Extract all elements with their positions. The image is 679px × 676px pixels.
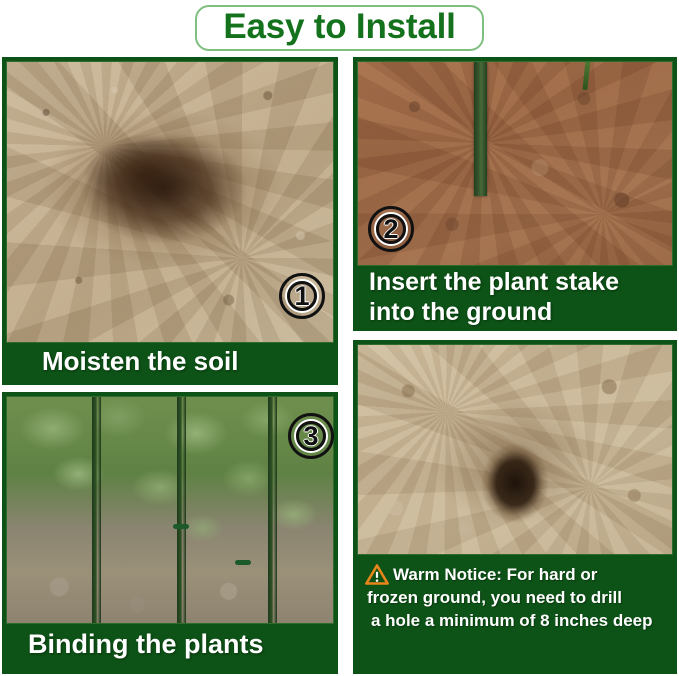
step-number-2: 2	[383, 216, 398, 243]
title-banner: Easy to Install	[0, 0, 679, 55]
step-badge-3: 3	[288, 413, 334, 459]
plant-stake-object	[474, 62, 487, 196]
drilled-hole-photo-frame	[357, 344, 673, 555]
step-3-caption: Binding the plants	[2, 622, 338, 670]
binding-plants-photo	[7, 397, 333, 623]
plant-stake-object	[92, 397, 101, 623]
infographic-root: Easy to Install Moisten the soil Insert …	[0, 0, 679, 676]
plant-stake-object	[268, 397, 277, 623]
notice-line-3: a hole a minimum of 8 inches deep	[363, 609, 669, 632]
step-number-3: 3	[303, 423, 318, 450]
grass-sprig-object	[583, 61, 591, 90]
notice-line-1: Warm Notice: For hard or	[363, 563, 669, 586]
title-box: Easy to Install	[195, 5, 483, 51]
plant-tie-object	[235, 560, 251, 565]
drilled-hole-photo	[358, 345, 672, 554]
warm-notice-text: Warm Notice: For hard or frozen ground, …	[357, 559, 673, 670]
step-1-caption: Moisten the soil	[2, 341, 338, 383]
step-panel-1: Moisten the soil	[2, 57, 338, 385]
plant-stake-object	[177, 397, 186, 623]
warning-triangle-icon	[365, 564, 389, 585]
step-2-caption-line-1: Insert the plant stake	[369, 267, 677, 297]
step-number-1: 1	[294, 283, 309, 310]
notice-panel: Warm Notice: For hard or frozen ground, …	[353, 340, 677, 674]
step-2-caption-line-2: into the ground	[369, 297, 677, 327]
step-badge-1: 1	[279, 273, 325, 319]
step-2-caption: Insert the plant stake into the ground	[353, 267, 677, 329]
plant-tie-object	[173, 524, 189, 529]
page-title: Easy to Install	[223, 9, 455, 44]
step-panel-2: Insert the plant stake into the ground	[353, 57, 677, 331]
step-3-photo-frame	[6, 396, 334, 624]
notice-line-2: frozen ground, you need to drill	[363, 586, 669, 609]
step-badge-2: 2	[368, 206, 414, 252]
